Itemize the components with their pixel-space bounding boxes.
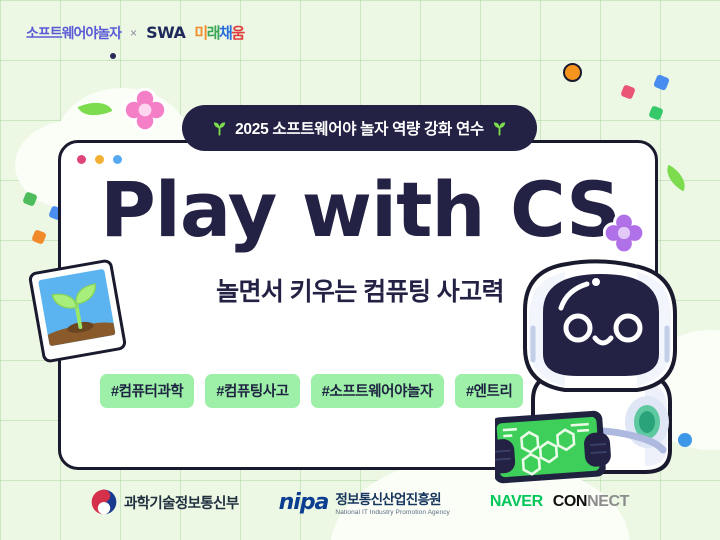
- connect-wordmark: CONNECT: [553, 493, 629, 511]
- logo-nipa: nipa 정보통신산업진흥원 National IT Industry Prom…: [279, 488, 450, 516]
- sprout-icon: [212, 120, 227, 136]
- astronaut-robot-mascot: [495, 250, 710, 490]
- window-dot: [77, 155, 86, 164]
- mirae-char: 채: [219, 22, 231, 43]
- nipa-text-block: 정보통신산업진흥원 National IT Industry Promotion…: [335, 488, 450, 516]
- sponsor-logo-bar: 과학기술정보통신부 nipa 정보통신산업진흥원 National IT Ind…: [0, 482, 720, 522]
- window-dot: [113, 155, 122, 164]
- connect-part-con: CON: [553, 493, 587, 510]
- sprout-photo-card: [28, 258, 128, 363]
- logo-naver-connect: NAVER CONNECT: [490, 493, 629, 511]
- hashtag-list: #컴퓨터과학#컴퓨팅사고#소프트웨어야놀자#엔트리: [100, 374, 523, 408]
- mirae-char: 움: [231, 22, 243, 43]
- sprout-icon: [492, 120, 507, 136]
- naver-wordmark: NAVER: [490, 493, 543, 511]
- logo-swa: SWA: [146, 23, 185, 42]
- logo-msit: 과학기술정보통신부: [91, 489, 239, 515]
- banner-text: 2025 소프트웨어야 놀자 역량 강화 연수: [235, 117, 484, 139]
- nipa-english-label: National IT Industry Promotion Agency: [335, 509, 450, 516]
- hashtag-chip[interactable]: #소프트웨어야놀자: [311, 374, 444, 408]
- photo-image: [38, 269, 116, 347]
- hashtag-chip[interactable]: #컴퓨터과학: [100, 374, 194, 408]
- event-banner: 2025 소프트웨어야 놀자 역량 강화 연수: [182, 105, 537, 151]
- astronaut-illustration: [495, 250, 710, 490]
- partner-logo-bar: 소프트웨어야놀자 × SWA 미래채움: [26, 22, 244, 43]
- logo-separator-x: ×: [130, 26, 137, 40]
- window-control-dots: [77, 155, 122, 164]
- sprout-illustration: [38, 269, 116, 347]
- connect-part-nect: NECT: [587, 493, 629, 510]
- window-dot: [95, 155, 104, 164]
- logo-software-ya-nolja: 소프트웨어야놀자: [26, 23, 121, 43]
- nipa-korean-label: 정보통신산업진흥원: [335, 488, 450, 508]
- hashtag-chip[interactable]: #컴퓨팅사고: [205, 374, 299, 408]
- nipa-wordmark: nipa: [279, 490, 329, 515]
- logo-mirae-chaeum: 미래채움: [194, 22, 243, 43]
- confetti-circle-orange: [563, 63, 582, 82]
- confetti-dot-navy: [110, 53, 116, 59]
- mirae-char: 미: [194, 22, 206, 43]
- flower-purple: [603, 212, 645, 254]
- flower-pink: [123, 88, 167, 132]
- msit-label: 과학기술정보통신부: [124, 492, 239, 513]
- taegeuk-icon: [91, 489, 117, 515]
- mirae-char: 래: [207, 22, 219, 43]
